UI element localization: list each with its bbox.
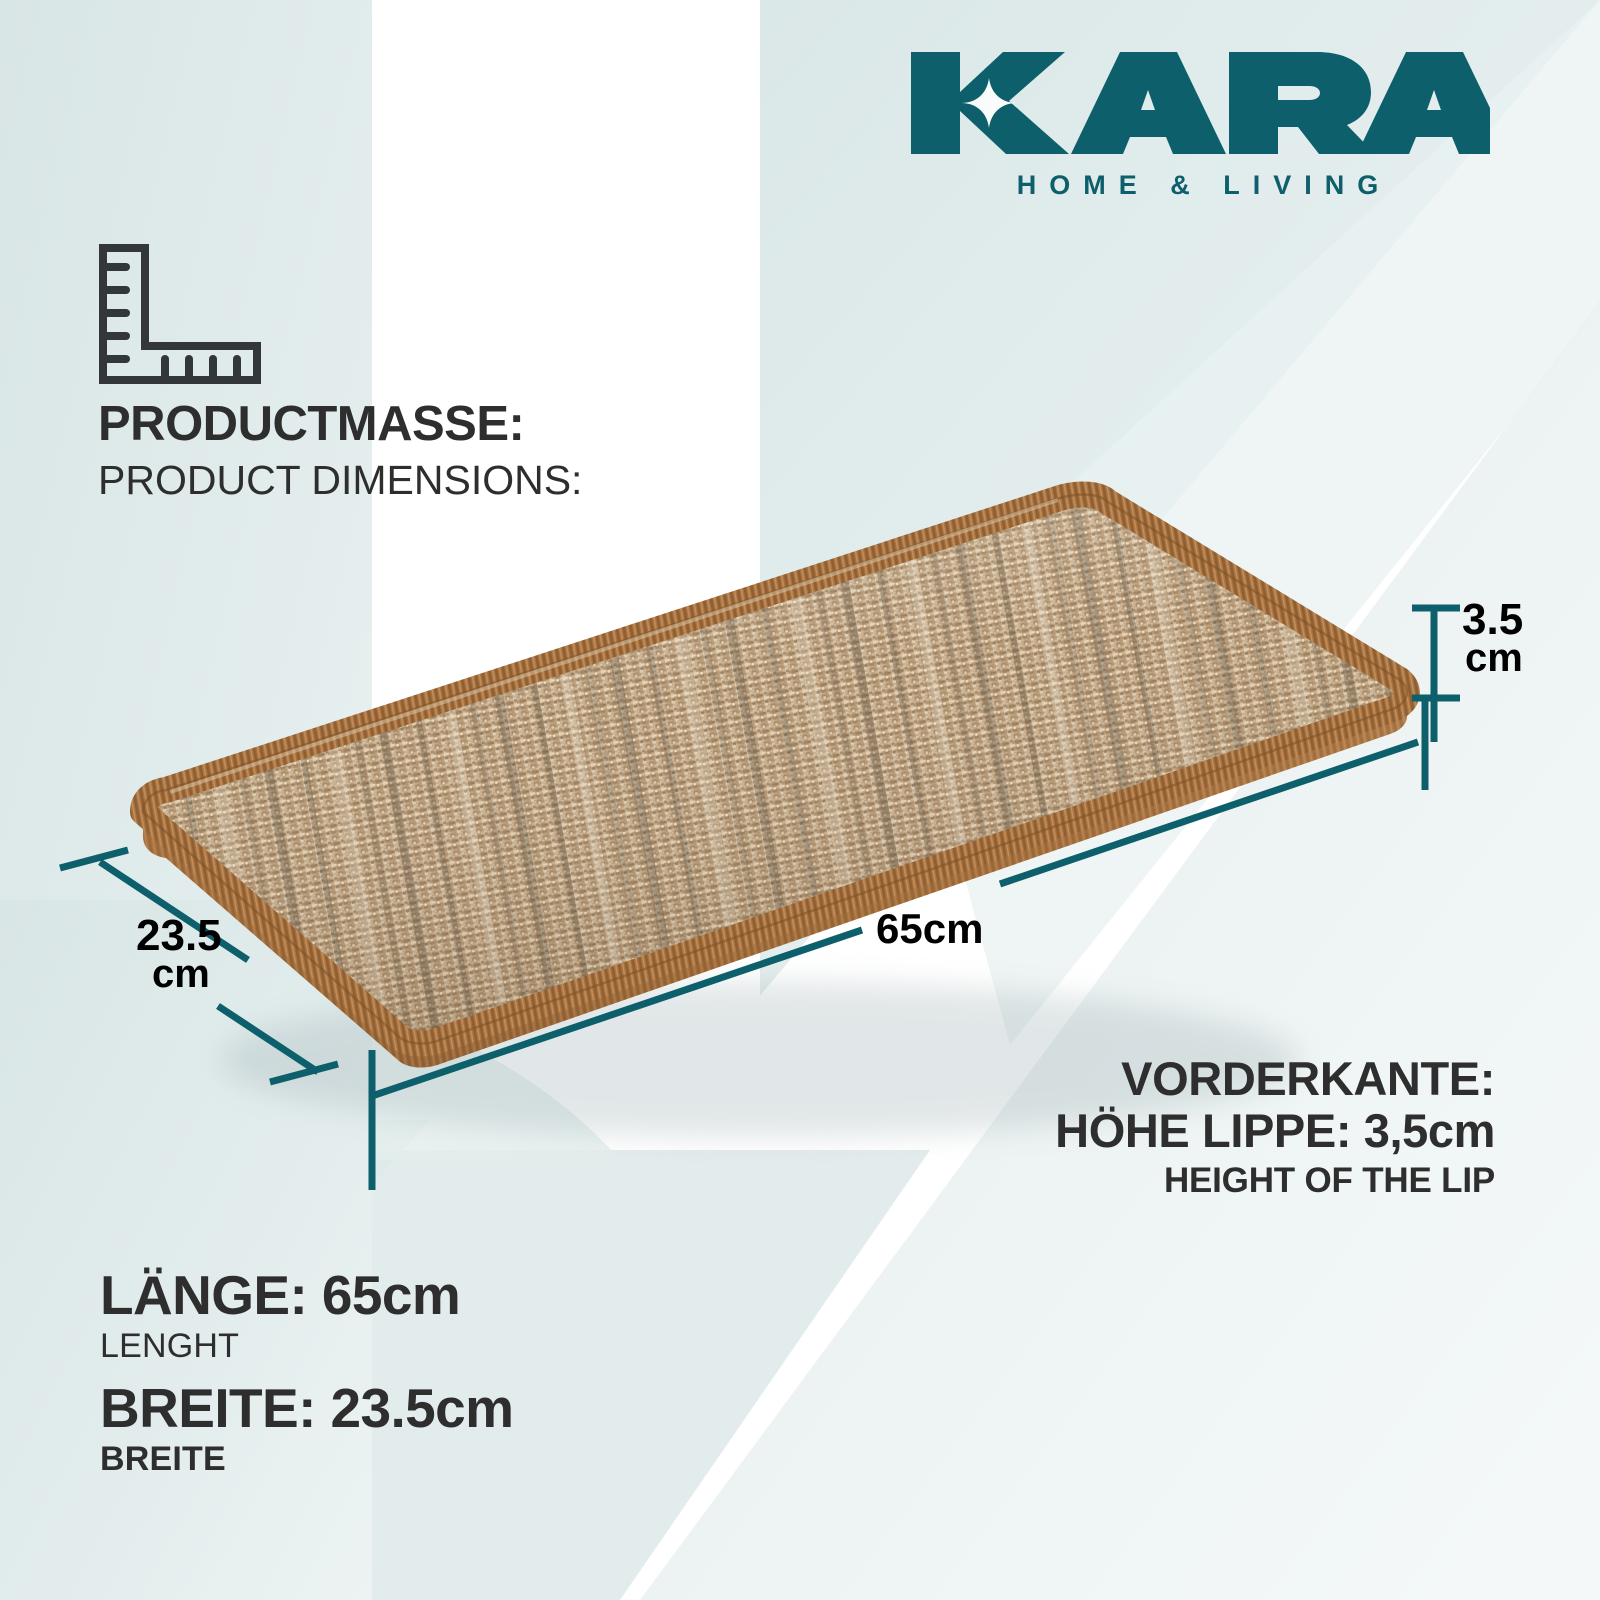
width-dim-line-lower	[218, 1006, 318, 1072]
spec-width-en: BREITE	[100, 1440, 800, 1478]
width-unit: cm	[152, 956, 222, 993]
specs-block: LÄNGE: 65cm LENGHT BREITE: 23.5cm BREITE	[100, 1268, 800, 1478]
spec-width-de: BREITE: 23.5cm	[100, 1381, 800, 1436]
length-dim-line-left	[372, 930, 862, 1096]
width-dim-cap-top	[60, 850, 128, 868]
spec-length-de: LÄNGE: 65cm	[100, 1268, 800, 1323]
front-edge-line1: VORDERKANTE:	[880, 1055, 1495, 1104]
length-dim-label: 65cm	[876, 910, 983, 949]
front-edge-block: VORDERKANTE: HÖHE LIPPE: 3,5cm HEIGHT OF…	[880, 1055, 1495, 1200]
width-dim-label: 23.5 cm	[136, 916, 222, 993]
height-dim-label: 3.5 cm	[1462, 600, 1523, 677]
front-edge-line3: HEIGHT OF THE LIP	[880, 1162, 1495, 1201]
height-unit: cm	[1465, 640, 1523, 677]
spec-length-en: LENGHT	[100, 1327, 800, 1365]
infographic-canvas: HOME & LIVING PRODUCTMASSE: PRODUCT DIME…	[0, 0, 1600, 1600]
front-edge-line2: HÖHE LIPPE: 3,5cm	[880, 1106, 1495, 1156]
length-dim-line-right	[1000, 742, 1418, 884]
